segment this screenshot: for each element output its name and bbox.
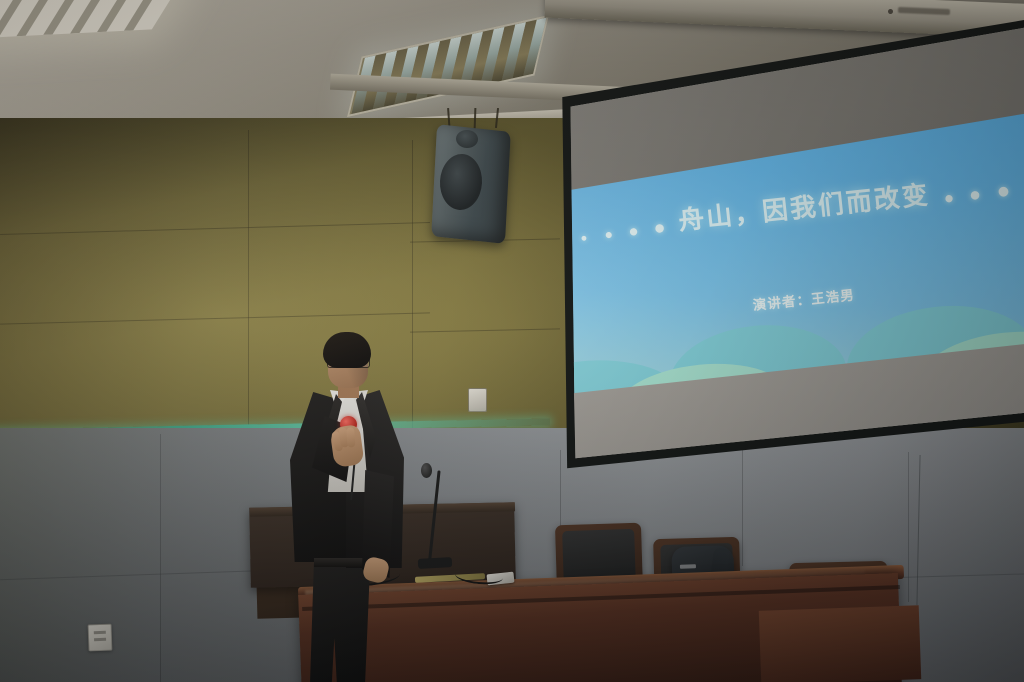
presenter — [278, 330, 408, 682]
light-switch-plate[interactable] — [468, 388, 487, 412]
slide-title-text: 舟山，因我们而改变 — [677, 180, 931, 236]
leading-dots-icon — [576, 209, 669, 248]
photo-scene: 2018 舟山，因我们而改变 演讲者：王浩男 — [0, 0, 1024, 682]
wall-socket[interactable] — [88, 624, 113, 652]
trailing-dots-icon — [940, 172, 1013, 208]
presenter-hand-on-chest — [329, 424, 364, 468]
presenter-hair — [323, 332, 371, 368]
conference-table-right-section — [759, 605, 921, 682]
microphone-base[interactable] — [418, 557, 452, 569]
projection-screen: 2018 舟山，因我们而改变 演讲者：王浩男 — [555, 18, 1024, 470]
pa-speaker — [430, 108, 516, 240]
microphone-head-icon[interactable] — [421, 463, 432, 478]
presenter-belt — [314, 558, 370, 567]
presenter-trousers — [310, 564, 374, 682]
